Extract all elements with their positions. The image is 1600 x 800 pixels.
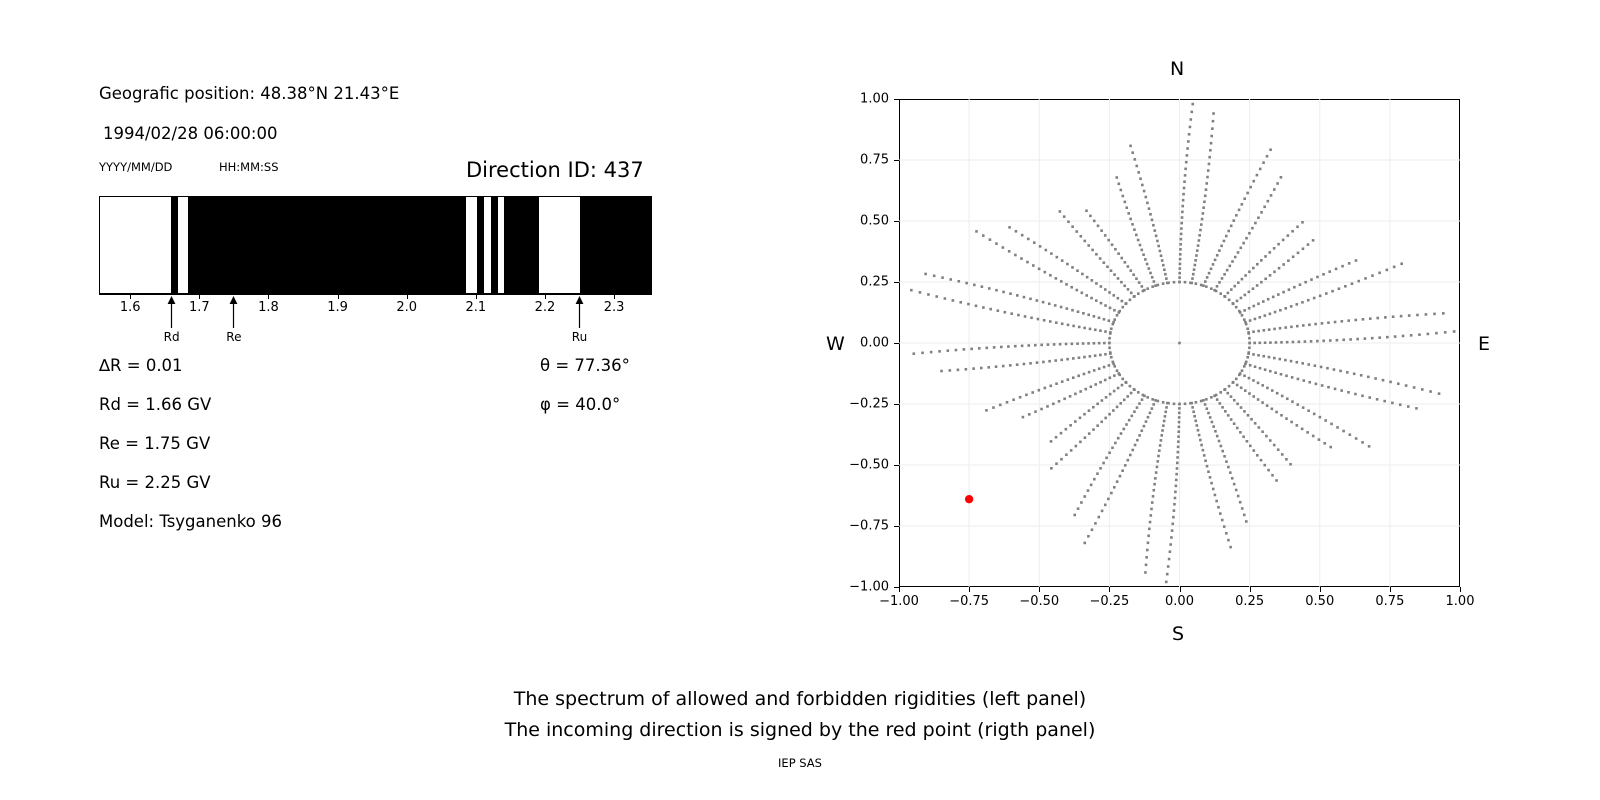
polar-x-tick-label: 0.75 — [1375, 594, 1404, 609]
polar-scatter-svg — [899, 99, 1460, 587]
spectrum-tick-label: 1.8 — [258, 300, 279, 315]
polar-y-tick-label: −0.50 — [837, 458, 889, 473]
incoming-direction-point — [965, 495, 973, 503]
polar-y-tick-label: 0.50 — [837, 214, 889, 229]
polar-x-tick-label: −1.00 — [879, 594, 919, 609]
spectrum-tick-label: 1.6 — [120, 300, 141, 315]
allowed-rigidity-band — [100, 197, 171, 293]
polar-x-tick-label: −0.75 — [949, 594, 989, 609]
polar-y-tick — [894, 465, 899, 466]
spectrum-tick — [130, 294, 131, 299]
spectrum-tick — [268, 294, 269, 299]
rigidity-marker-label-re: Re — [226, 330, 241, 344]
datetime-label: 1994/02/28 06:00:00 — [103, 124, 277, 143]
polar-x-tick — [1039, 587, 1040, 592]
spectrum-tick-label: 2.3 — [604, 300, 625, 315]
polar-x-tick-label: 0.00 — [1165, 594, 1194, 609]
param-ru: Ru = 2.25 GV — [99, 473, 211, 492]
rigidity-marker-arrow-rd — [166, 296, 177, 328]
polar-y-tick — [894, 526, 899, 527]
rigidity-marker-label-ru: Ru — [572, 330, 587, 344]
param-delta-r: ∆R = 0.01 — [99, 356, 183, 375]
allowed-rigidity-band — [498, 197, 505, 293]
polar-y-tick-label: 0.75 — [837, 153, 889, 168]
caption-line-2: The incoming direction is signed by the … — [0, 719, 1600, 741]
spectrum-tick — [199, 294, 200, 299]
polar-direction-plot — [899, 99, 1460, 587]
polar-y-tick-label: −0.75 — [837, 519, 889, 534]
polar-y-tick-label: 1.00 — [837, 92, 889, 107]
rigidity-spectrum-bar — [99, 196, 652, 294]
param-theta: θ = 77.36° — [540, 356, 630, 375]
polar-y-tick — [894, 282, 899, 283]
polar-x-tick — [969, 587, 970, 592]
spectrum-tick — [545, 294, 546, 299]
polar-y-tick-label: 0.00 — [837, 336, 889, 351]
spectrum-tick — [476, 294, 477, 299]
polar-x-tick-label: −0.50 — [1019, 594, 1059, 609]
spectrum-tick-label: 1.9 — [327, 300, 348, 315]
polar-x-tick — [1109, 587, 1110, 592]
figure-canvas: Geografic position: 48.38°N 21.43°E 1994… — [0, 0, 1600, 800]
polar-y-tick-label: −1.00 — [837, 580, 889, 595]
spectrum-tick-label: 2.0 — [396, 300, 417, 315]
spectrum-tick-label: 2.1 — [465, 300, 486, 315]
allowed-rigidity-band — [484, 197, 491, 293]
polar-x-tick-label: 1.00 — [1446, 594, 1475, 609]
time-format-hint: HH:MM:SS — [219, 160, 279, 174]
polar-x-tick — [1320, 587, 1321, 592]
param-rd: Rd = 1.66 GV — [99, 395, 211, 414]
polar-x-tick-label: 0.25 — [1235, 594, 1264, 609]
polar-x-tick — [899, 587, 900, 592]
polar-y-tick — [894, 160, 899, 161]
compass-label-south: S — [1172, 623, 1184, 645]
polar-y-tick — [894, 343, 899, 344]
spectrum-tick-label: 1.7 — [189, 300, 210, 315]
compass-label-east: E — [1478, 333, 1490, 355]
geographic-position-label: Geografic position: 48.38°N 21.43°E — [99, 84, 399, 103]
spectrum-tick-label: 2.2 — [535, 300, 556, 315]
spectrum-axis-line — [99, 294, 652, 295]
polar-y-tick-label: −0.25 — [837, 397, 889, 412]
allowed-rigidity-band — [178, 197, 188, 293]
polar-y-tick — [894, 221, 899, 222]
polar-x-tick — [1250, 587, 1251, 592]
spectrum-tick — [614, 294, 615, 299]
polar-x-tick-label: 0.50 — [1305, 594, 1334, 609]
polar-y-tick-label: 0.25 — [837, 275, 889, 290]
polar-x-tick — [1460, 587, 1461, 592]
allowed-rigidity-band — [539, 197, 580, 293]
direction-id-label: Direction ID: 437 — [466, 158, 644, 182]
date-format-hint: YYYY/MM/DD — [99, 160, 172, 174]
polar-x-tick — [1180, 587, 1181, 592]
rigidity-marker-arrow-ru — [574, 296, 585, 328]
rigidity-marker-arrow-re — [228, 296, 239, 328]
polar-y-tick — [894, 99, 899, 100]
compass-label-north: N — [1170, 58, 1184, 80]
polar-y-tick — [894, 404, 899, 405]
spectrum-tick — [338, 294, 339, 299]
rigidity-marker-label-rd: Rd — [164, 330, 180, 344]
param-re: Re = 1.75 GV — [99, 434, 210, 453]
footer-label: IEP SAS — [0, 756, 1600, 770]
caption-line-1: The spectrum of allowed and forbidden ri… — [0, 688, 1600, 710]
spectrum-tick — [407, 294, 408, 299]
param-model: Model: Tsyganenko 96 — [99, 512, 282, 531]
param-phi: φ = 40.0° — [540, 395, 620, 414]
allowed-rigidity-band — [466, 197, 476, 293]
polar-x-tick-label: −0.25 — [1089, 594, 1129, 609]
polar-x-tick — [1390, 587, 1391, 592]
